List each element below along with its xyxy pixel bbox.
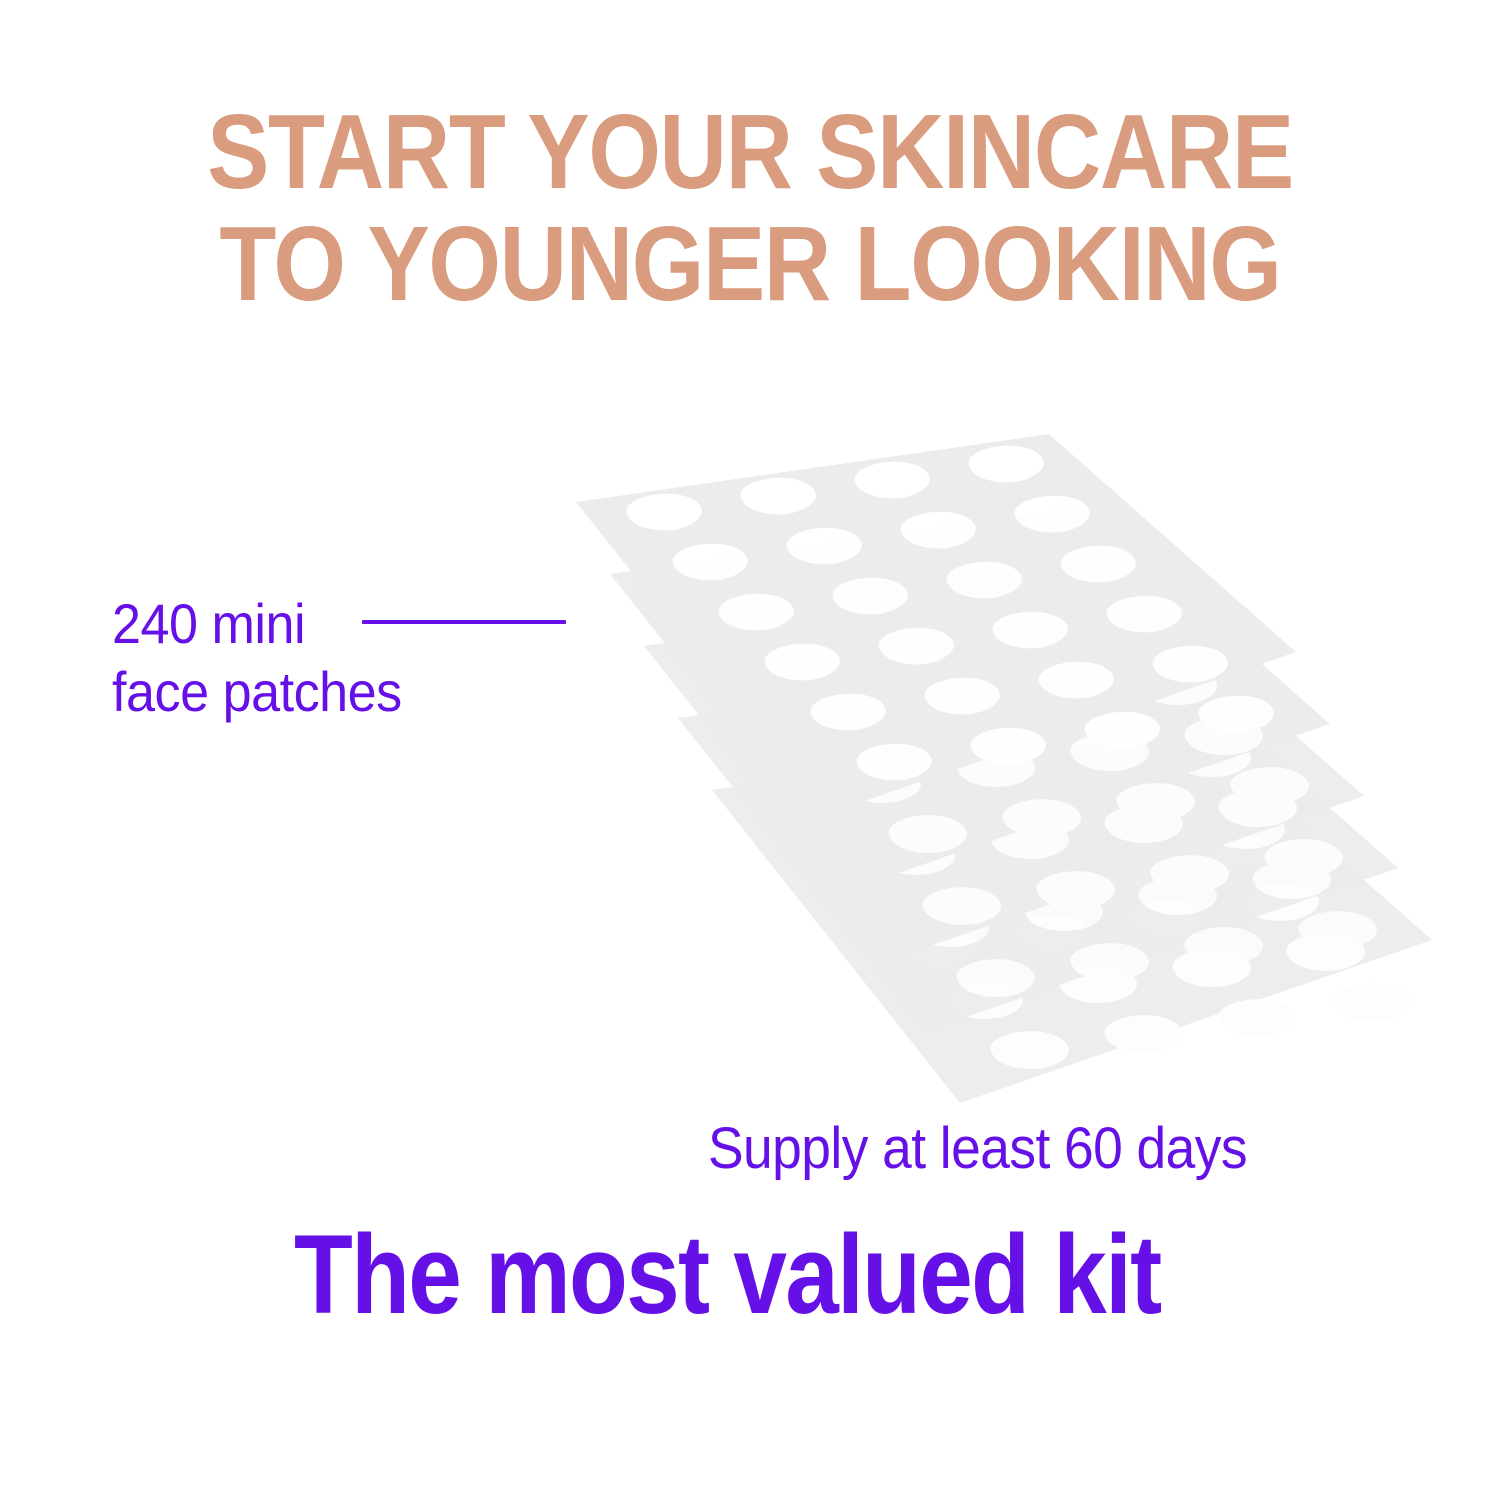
callout-patch-count-line-1: 240 mini — [112, 590, 402, 658]
patch-sheet-5 — [712, 722, 1432, 1103]
tagline-most-valued-kit: The most valued kit — [294, 1216, 1161, 1334]
patch-sheet-1 — [576, 434, 1296, 815]
callout-patch-count-line-2: face patches — [112, 658, 402, 726]
patch-sheet-4 — [678, 650, 1398, 1031]
callout-supply-duration: Supply at least 60 days — [708, 1118, 1247, 1180]
callout-leader-line — [362, 620, 566, 624]
headline-line-2: TO YOUNGER LOOKING — [90, 208, 1410, 320]
patch-sheet-2 — [610, 506, 1330, 887]
headline-line-1: START YOUR SKINCARE — [90, 96, 1410, 208]
product-marketing-canvas: START YOUR SKINCARE TO YOUNGER LOOKING 2… — [0, 0, 1500, 1500]
callout-patch-count: 240 mini face patches — [112, 590, 402, 726]
page-headline: START YOUR SKINCARE TO YOUNGER LOOKING — [90, 96, 1410, 320]
patch-sheet-3 — [644, 578, 1364, 959]
